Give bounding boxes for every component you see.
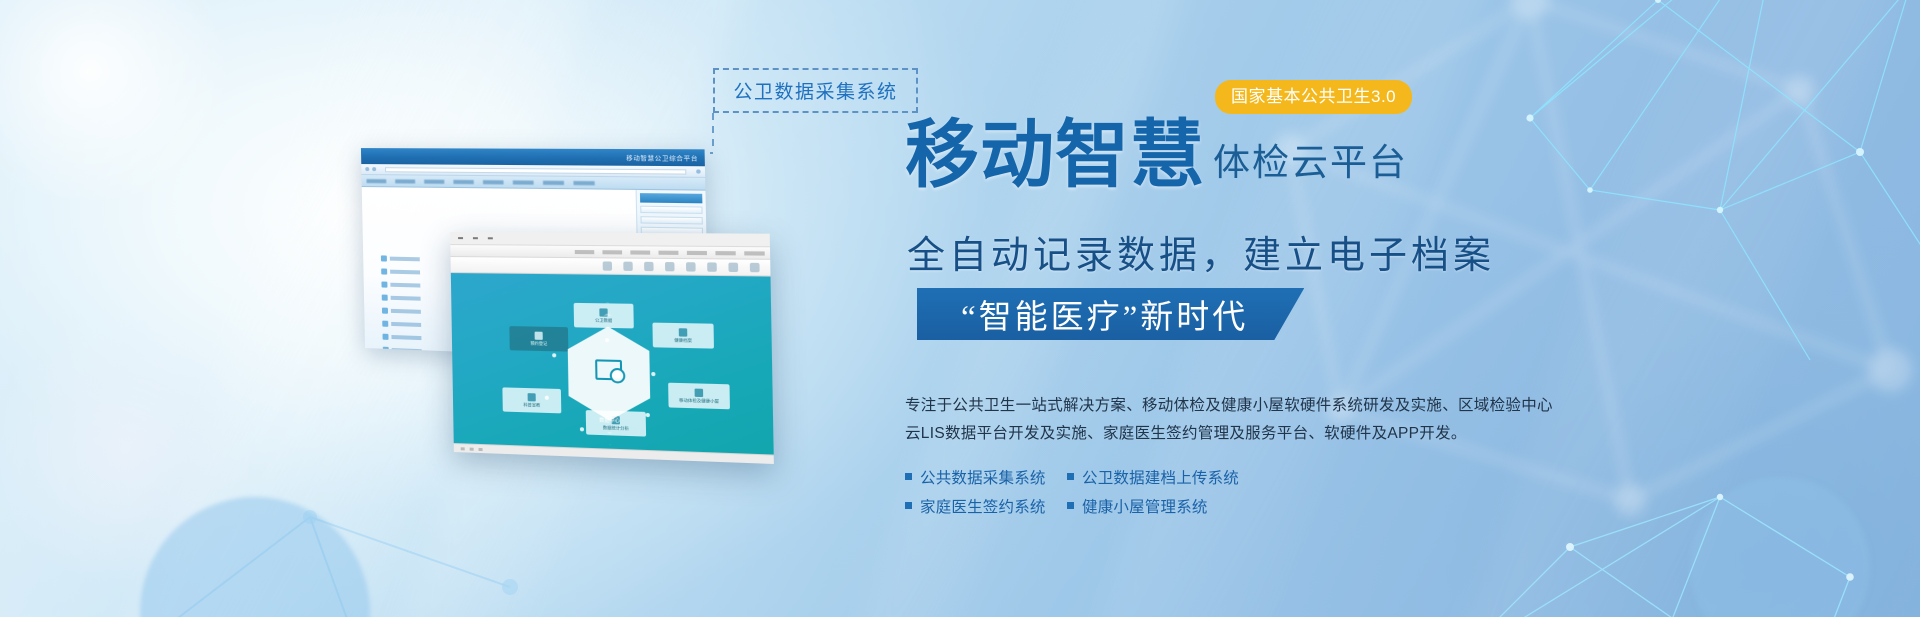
toolbar-icon xyxy=(665,262,675,271)
toolbar-icon xyxy=(728,263,738,272)
tab-item xyxy=(715,251,735,255)
menu-item xyxy=(573,180,594,184)
shortcut-icon xyxy=(381,255,387,261)
glow-blob-decor xyxy=(0,0,240,200)
shortcut-icon xyxy=(382,308,388,314)
description-paragraph: 专注于公共卫生一站式解决方案、移动体检及健康小屋软硬件系统研发及实施、区域检验中… xyxy=(905,392,1485,448)
headline-tagline: 全自动记录数据，建立电子档案 xyxy=(907,224,1495,279)
circle-blob-decor xyxy=(140,497,370,617)
shortcut-icon xyxy=(382,321,388,327)
toolbar-icon xyxy=(707,262,717,271)
node-label: 移动体检及健康小屋 xyxy=(679,397,719,404)
tab-item xyxy=(658,250,678,254)
back-arrow-icon xyxy=(365,167,369,171)
shortcut-item xyxy=(382,334,421,341)
tab-item xyxy=(687,250,707,254)
feature-label: 公共数据采集系统 xyxy=(920,466,1046,488)
menu-item xyxy=(424,179,444,183)
shortcut-label xyxy=(391,335,421,340)
node-label: 科普宣教 xyxy=(523,402,540,409)
bullet-square-icon xyxy=(905,473,912,480)
ribbon-label: “智能医疗”新时代 xyxy=(961,290,1248,338)
shortcut-item xyxy=(382,295,421,302)
shortcut-item xyxy=(382,321,421,328)
status-indicator xyxy=(479,447,483,450)
menu-item xyxy=(366,179,386,183)
callout-label: 公卫数据采集系统 xyxy=(733,77,897,104)
menu-item xyxy=(453,179,473,183)
status-indicator xyxy=(461,447,465,450)
screenshot-hex-dashboard[interactable]: 公卫数据 健康档案 移动体检及健康小屋 数据统计分析 科普宣教 xyxy=(450,232,774,464)
toolbar-icon xyxy=(644,262,654,271)
status-badge-national-standard[interactable]: 国家基本公共卫生3.0 xyxy=(1215,80,1412,114)
feature-bullet-list-col2: 公卫数据建档上传系统 健康小屋管理系统 xyxy=(1065,462,1305,520)
glow-blob-decor xyxy=(0,300,250,600)
headline-right-group: 国家基本公共卫生3.0 体检云平台 xyxy=(1213,132,1408,190)
list-item-feature[interactable]: 健康小屋管理系统 xyxy=(1065,491,1305,520)
circle-blob-decor xyxy=(1690,477,1870,617)
node-label: 健康档案 xyxy=(674,337,692,344)
node-label: 预约登记 xyxy=(530,340,547,346)
callout-box-public-health-data-collection[interactable]: 公卫数据采集系统 xyxy=(713,68,918,113)
data-search-icon xyxy=(595,359,622,380)
feature-label: 健康小屋管理系统 xyxy=(1082,495,1208,517)
dashboard-canvas: 公卫数据 健康档案 移动体检及健康小屋 数据统计分析 科普宣教 xyxy=(451,273,774,464)
shortcut-icon xyxy=(382,295,388,301)
list-item-feature[interactable]: 公卫数据建档上传系统 xyxy=(1065,462,1305,491)
bullet-square-icon xyxy=(1067,473,1074,480)
screenshot-title-text: 移动智慧公卫综合平台 xyxy=(626,153,698,163)
toolbar-icon xyxy=(750,263,760,272)
menu-item xyxy=(483,180,504,184)
shortcut-item xyxy=(382,308,421,315)
shortcut-icon xyxy=(381,268,387,274)
close-icon xyxy=(488,237,493,239)
shortcut-label xyxy=(391,309,421,314)
menu-item xyxy=(513,180,534,184)
banner-content: 移动智慧 国家基本公共卫生3.0 体检云平台 全自动记录数据，建立电子档案 “智… xyxy=(905,0,1605,617)
node-icon xyxy=(695,388,704,397)
address-bar xyxy=(385,167,686,174)
hex-center-label: 数据中心 xyxy=(599,416,620,424)
menu-item xyxy=(543,180,564,184)
status-indicator xyxy=(470,447,474,450)
feature-label: 家庭医生签约系统 xyxy=(920,495,1046,517)
toolbar-icon xyxy=(603,261,612,270)
tab-item xyxy=(744,251,764,255)
shortcut-icon-column-left xyxy=(381,255,422,361)
refresh-icon xyxy=(696,169,701,173)
description-line-2: 云LIS数据平台开发及实施、家庭医生签约管理及服务平台、软硬件及APP开发。 xyxy=(905,420,1485,448)
shortcut-icon xyxy=(381,281,387,287)
sidebar-panel-row xyxy=(640,216,702,224)
toolbar-icon xyxy=(623,262,632,271)
maximize-icon xyxy=(473,237,478,239)
shortcut-label xyxy=(391,296,421,301)
hex-node-card[interactable]: 移动体检及健康小屋 xyxy=(668,383,730,410)
bullet-square-icon xyxy=(905,502,912,509)
shortcut-label xyxy=(392,348,422,353)
feature-label: 公卫数据建档上传系统 xyxy=(1082,466,1239,488)
banner-root: 公卫数据采集系统 移动智慧公卫综合平台 xyxy=(0,0,1920,617)
ribbon-banner[interactable]: “智能医疗”新时代 xyxy=(917,288,1304,340)
headline-secondary: 体检云平台 xyxy=(1213,143,1408,184)
headline-group: 移动智慧 国家基本公共卫生3.0 体检云平台 xyxy=(905,120,1408,190)
shortcut-item xyxy=(383,347,422,355)
sidebar-panel-header xyxy=(640,193,702,203)
shortcut-item xyxy=(381,268,420,275)
node-icon xyxy=(679,328,688,336)
shortcut-item xyxy=(381,281,420,288)
shortcut-label xyxy=(390,270,420,275)
sidebar-panel-row xyxy=(640,206,702,214)
headline-primary: 移动智慧 xyxy=(905,120,1205,190)
hex-center-node[interactable]: 数据中心 xyxy=(561,326,658,423)
minimize-icon xyxy=(458,237,463,239)
menu-item xyxy=(395,179,415,183)
tab-item xyxy=(602,250,622,254)
node-icon xyxy=(528,393,536,401)
toolbar-icon xyxy=(686,262,696,271)
dashboard-status-bar xyxy=(454,443,774,464)
node-icon xyxy=(535,331,543,339)
shortcut-item xyxy=(381,255,420,262)
shortcut-label xyxy=(390,283,420,288)
description-line-1: 专注于公共卫生一站式解决方案、移动体检及健康小屋软硬件系统研发及实施、区域检验中… xyxy=(905,392,1485,420)
shortcut-label xyxy=(391,322,421,327)
forward-arrow-icon xyxy=(372,167,376,171)
shortcut-icon xyxy=(382,334,388,340)
shortcut-icon xyxy=(383,347,389,353)
tab-item xyxy=(630,250,650,254)
tab-item xyxy=(575,249,595,253)
bullet-square-icon xyxy=(1067,502,1074,509)
shortcut-label xyxy=(390,257,420,262)
